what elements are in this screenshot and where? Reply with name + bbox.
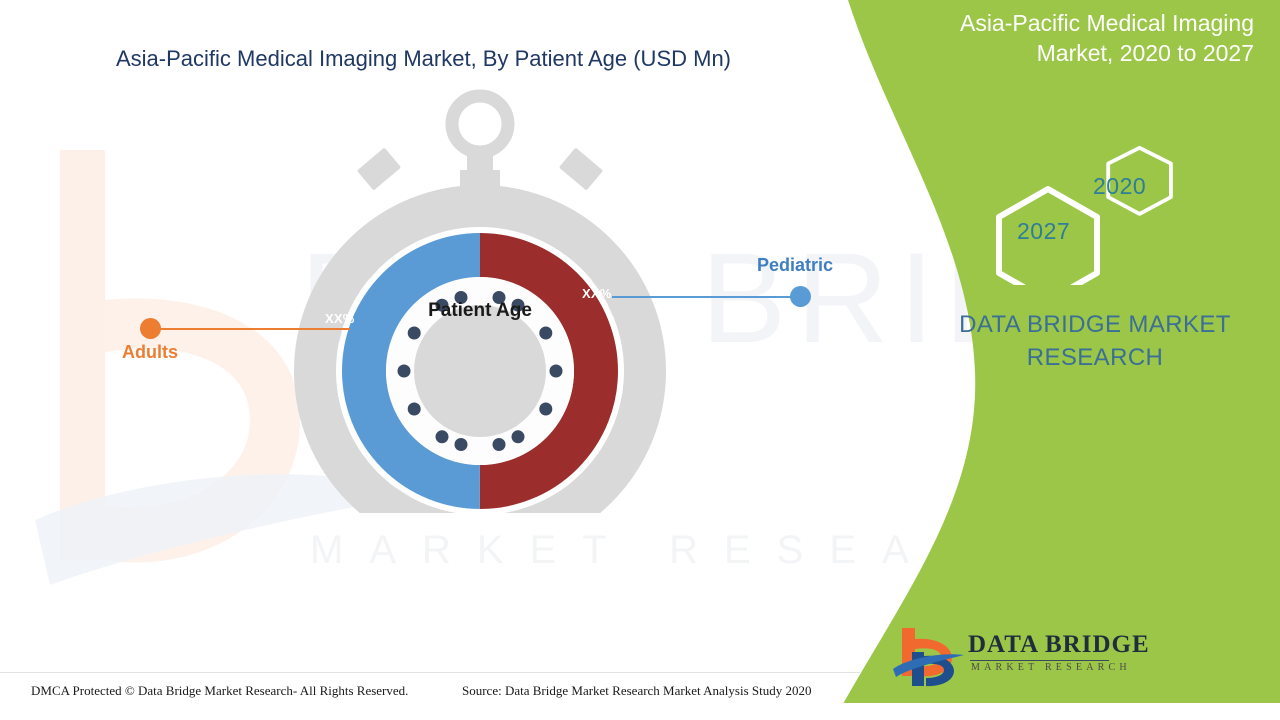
logo-subtitle: MARKET RESEARCH	[971, 662, 1131, 673]
callout-pediatric-line	[612, 296, 794, 298]
callout-adults-dot-icon	[140, 318, 161, 339]
footer-divider	[0, 672, 860, 673]
footer-strip	[0, 703, 1280, 720]
pediatric-percent-label: XX%	[582, 286, 612, 301]
db-monogram-icon	[890, 622, 968, 688]
callout-adults-line	[160, 328, 350, 330]
hexagon-year-group: 2020 2027	[985, 140, 1185, 285]
footer-source: Source: Data Bridge Market Research Mark…	[462, 683, 811, 699]
infographic-canvas: DATA BRIDGE MARKET RESEARCH Asia-Pacific…	[0, 0, 1280, 720]
footer-copyright: DMCA Protected © Data Bridge Market Rese…	[31, 683, 408, 699]
callout-adults-label: Adults	[122, 342, 178, 363]
callout-pediatric: Pediatric	[612, 286, 822, 346]
callout-adults: Adults	[140, 318, 340, 378]
panel-brand-text: DATA BRIDGE MARKET RESEARCH	[930, 308, 1260, 374]
hexagon-label-2020: 2020	[1093, 173, 1146, 200]
data-bridge-logo: DATA BRIDGE MARKET RESEARCH	[890, 622, 1115, 688]
logo-divider	[970, 660, 1109, 661]
hexagon-outline-icon	[985, 140, 1185, 285]
page-title: Asia-Pacific Medical Imaging Market, By …	[116, 46, 731, 72]
panel-title: Asia-Pacific Medical Imaging Market, 202…	[909, 8, 1254, 68]
callout-pediatric-dot-icon	[790, 286, 811, 307]
logo-title: DATA BRIDGE	[968, 631, 1150, 659]
callout-pediatric-label: Pediatric	[757, 255, 833, 276]
hexagon-label-2027: 2027	[1017, 218, 1070, 245]
